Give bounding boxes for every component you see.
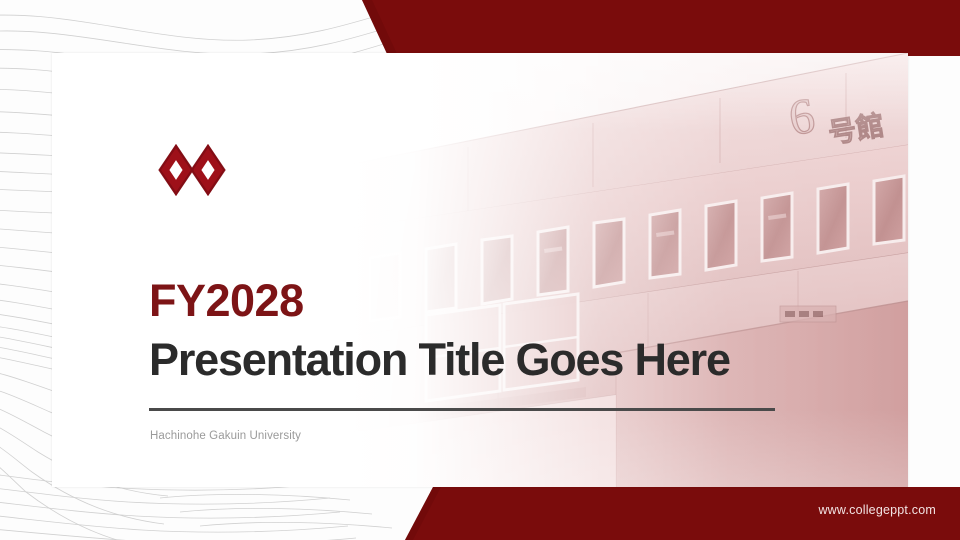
university-building-photo: 6 号館 — [348, 53, 908, 487]
content-card: 6 号館 — [52, 53, 908, 487]
organization-name: Hachinohe Gakuin University — [150, 430, 301, 442]
title-text-block: FY2028 Presentation Title Goes Here — [149, 277, 849, 384]
page-title: Presentation Title Goes Here — [149, 336, 849, 385]
title-divider — [149, 408, 775, 411]
presentation-slide: 6 号館 — [0, 0, 960, 540]
hachinohe-gakuin-university-logo — [156, 139, 228, 201]
fiscal-year-title: FY2028 — [149, 277, 849, 326]
footer-website-url: www.collegeppt.com — [818, 503, 936, 517]
